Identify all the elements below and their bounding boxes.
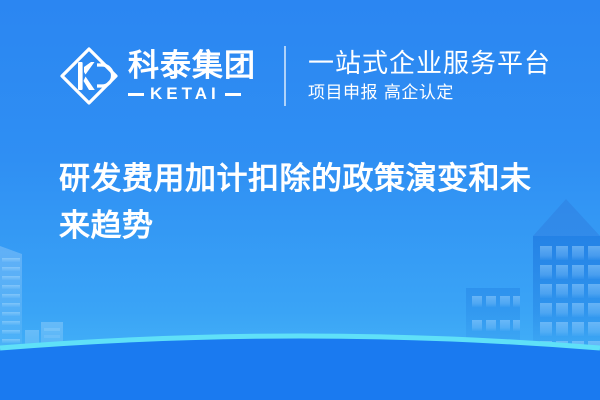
logo-dash-right (225, 93, 241, 96)
page-title: 研发费用加计扣除的政策演变和未来趋势 (59, 156, 559, 250)
bottom-wave-divider (0, 310, 600, 400)
logo-english-row: KETAI (128, 85, 256, 103)
header-divider (284, 46, 286, 106)
logo-dash-left (128, 93, 144, 96)
tagline-sub: 项目申报 高企认定 (308, 82, 551, 104)
tagline-block: 一站式企业服务平台 项目申报 高企认定 (308, 49, 551, 104)
logo-chinese-name: 科泰集团 (128, 49, 256, 83)
logo-wordmark: 科泰集团 KETAI (128, 49, 256, 103)
tagline-main: 一站式企业服务平台 (308, 49, 551, 80)
brand-header: 科泰集团 KETAI 一站式企业服务平台 项目申报 高企认定 (58, 38, 551, 114)
logo-english-name: KETAI (150, 85, 220, 103)
promo-banner: 科泰集团 KETAI 一站式企业服务平台 项目申报 高企认定 研发费用加计扣除的… (0, 0, 600, 400)
kp-diamond-logo-icon (58, 45, 120, 107)
